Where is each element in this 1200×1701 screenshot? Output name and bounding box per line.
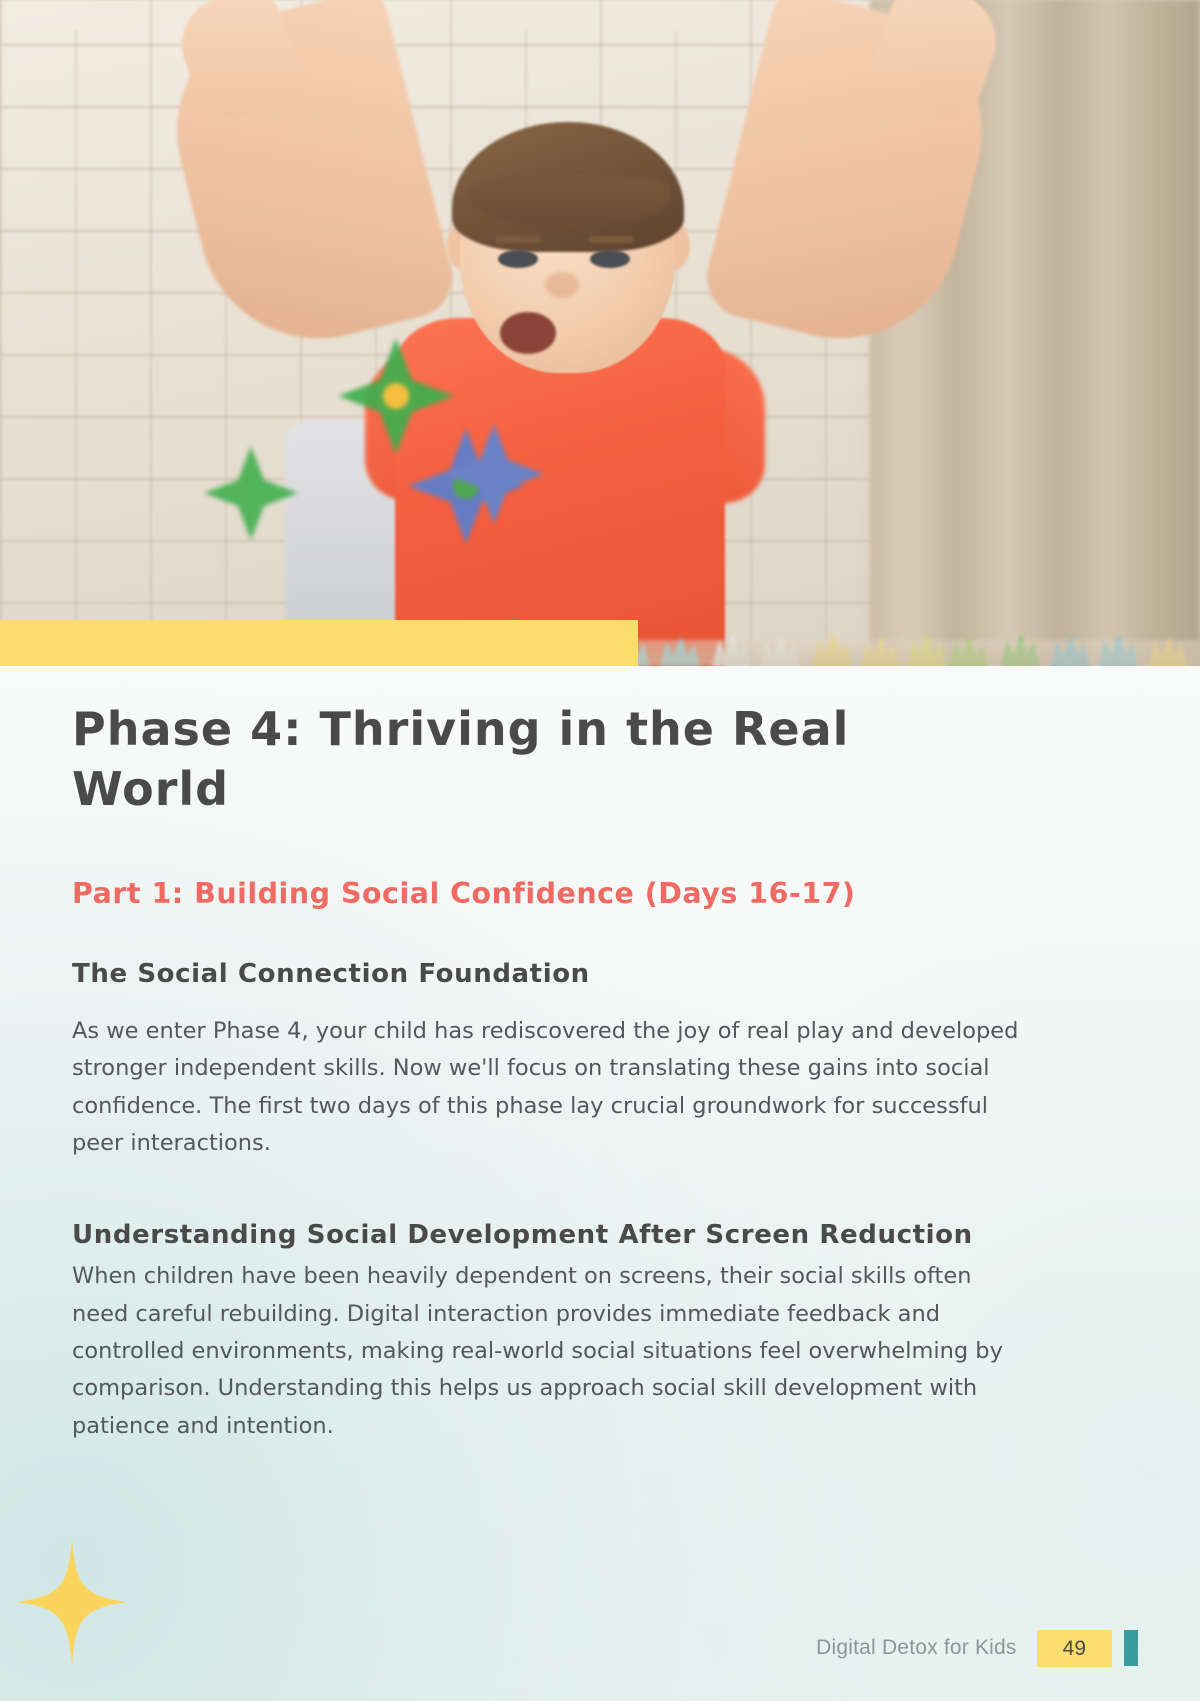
page-content: Phase 4: Thriving in the Real World Part… (72, 700, 1038, 1445)
subheading-social-connection-foundation: The Social Connection Foundation (72, 911, 1038, 991)
paragraph-1: As we enter Phase 4, your child has redi… (72, 991, 1032, 1162)
page-footer: Digital Detox for Kids 49 (0, 1630, 1200, 1667)
toy-flower-pieces (0, 0, 1200, 666)
hero-photo (0, 0, 1200, 666)
document-page: Phase 4: Thriving in the Real World Part… (0, 0, 1200, 1701)
paragraph-2: When children have been heavily dependen… (72, 1258, 1032, 1445)
page-number-badge: 49 (1037, 1630, 1112, 1667)
page-number-tick (1124, 1630, 1138, 1666)
accent-bar (0, 620, 638, 666)
hero-scene (0, 0, 1200, 666)
footer-book-title: Digital Detox for Kids (816, 1636, 1016, 1660)
page-title: Phase 4: Thriving in the Real World (72, 700, 952, 820)
section-label: Part 1: Building Social Confidence (Days… (72, 820, 1038, 912)
subheading-understanding-social-development: Understanding Social Development After S… (72, 1162, 1038, 1262)
